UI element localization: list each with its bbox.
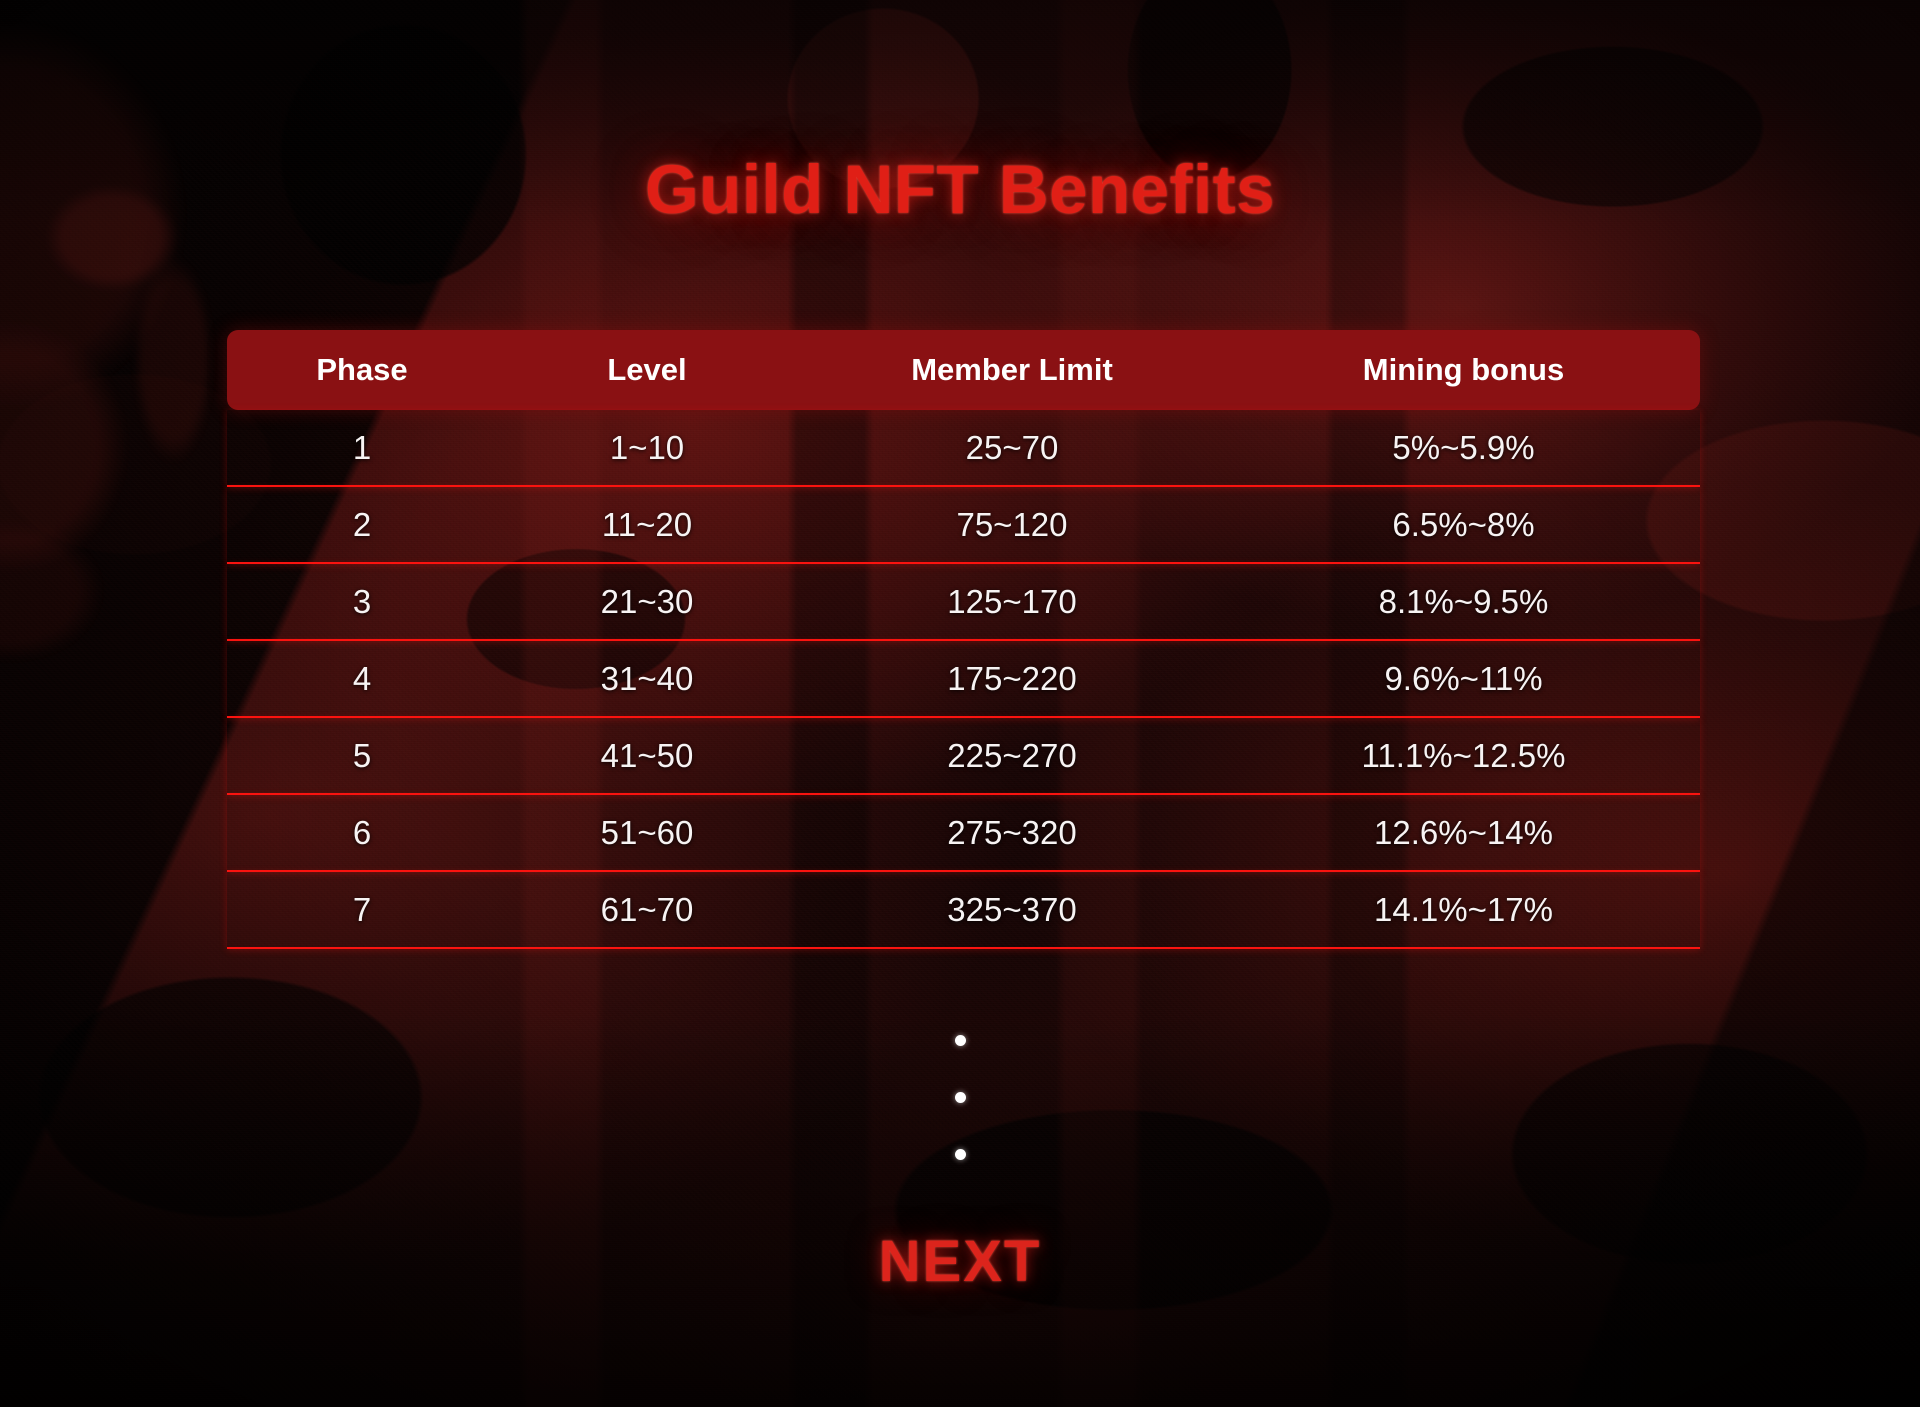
cell-mining-bonus: 6.5%~8% [1227,506,1700,544]
cell-member-limit: 225~270 [797,737,1227,775]
table-row: 5 41~50 225~270 11.1%~12.5% [227,718,1700,795]
guild-nft-benefits-screen: Guild NFT Benefits Phase Level Member Li… [0,0,1920,1407]
cell-mining-bonus: 8.1%~9.5% [1227,583,1700,621]
cell-phase: 4 [227,660,497,698]
table-row: 2 11~20 75~120 6.5%~8% [227,487,1700,564]
cell-phase: 1 [227,429,497,467]
content-root: Guild NFT Benefits Phase Level Member Li… [0,0,1920,1407]
table-row: 1 1~10 25~70 5%~5.9% [227,410,1700,487]
cell-member-limit: 275~320 [797,814,1227,852]
cell-mining-bonus: 9.6%~11% [1227,660,1700,698]
page-title: Guild NFT Benefits [0,150,1920,229]
column-header-mining-bonus: Mining bonus [1227,352,1700,388]
table-header-row: Phase Level Member Limit Mining bonus [227,330,1700,410]
next-button[interactable]: NEXT [0,1228,1920,1295]
ellipsis-dot [955,1035,966,1046]
cell-level: 21~30 [497,583,797,621]
benefits-table: Phase Level Member Limit Mining bonus 1 … [227,330,1700,949]
column-header-level: Level [497,352,797,388]
ellipsis-dot [955,1149,966,1160]
cell-member-limit: 125~170 [797,583,1227,621]
cell-level: 51~60 [497,814,797,852]
cell-level: 1~10 [497,429,797,467]
table-row: 7 61~70 325~370 14.1%~17% [227,872,1700,949]
cell-level: 31~40 [497,660,797,698]
cell-mining-bonus: 12.6%~14% [1227,814,1700,852]
column-header-member-limit: Member Limit [797,352,1227,388]
vertical-ellipsis-icon [0,1035,1920,1160]
cell-phase: 2 [227,506,497,544]
column-header-phase: Phase [227,352,497,388]
cell-member-limit: 325~370 [797,891,1227,929]
cell-phase: 3 [227,583,497,621]
table-row: 4 31~40 175~220 9.6%~11% [227,641,1700,718]
cell-level: 61~70 [497,891,797,929]
cell-phase: 6 [227,814,497,852]
cell-phase: 7 [227,891,497,929]
cell-level: 11~20 [497,506,797,544]
cell-mining-bonus: 11.1%~12.5% [1227,737,1700,775]
cell-mining-bonus: 5%~5.9% [1227,429,1700,467]
table-row: 6 51~60 275~320 12.6%~14% [227,795,1700,872]
cell-member-limit: 75~120 [797,506,1227,544]
cell-member-limit: 25~70 [797,429,1227,467]
ellipsis-dot [955,1092,966,1103]
cell-member-limit: 175~220 [797,660,1227,698]
table-row: 3 21~30 125~170 8.1%~9.5% [227,564,1700,641]
cell-phase: 5 [227,737,497,775]
cell-level: 41~50 [497,737,797,775]
cell-mining-bonus: 14.1%~17% [1227,891,1700,929]
